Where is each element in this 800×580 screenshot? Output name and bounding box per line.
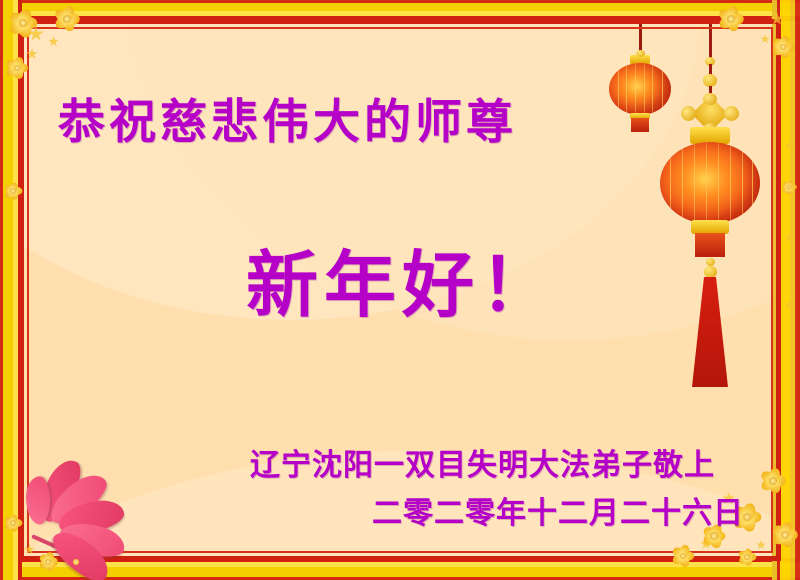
gold-blossom-cluster	[2, 512, 24, 534]
lotus-petal	[25, 476, 51, 525]
greeting-card: 恭祝慈悲伟大的师尊 新年好！ 辽宁沈阳一双目失明大法弟子敬上 二零二零年十二月二…	[0, 0, 800, 580]
signature-line: 辽宁沈阳一双目失明大法弟子敬上	[250, 440, 715, 484]
lotus-petal	[31, 454, 88, 526]
main-greeting-text: 新年好！	[246, 226, 558, 331]
greeting-title: 恭祝慈悲伟大的师尊	[58, 83, 517, 152]
date-line: 二零二零年十二月二十六日	[372, 488, 744, 532]
gold-star	[784, 300, 794, 310]
gold-blossom-cluster	[758, 466, 788, 496]
